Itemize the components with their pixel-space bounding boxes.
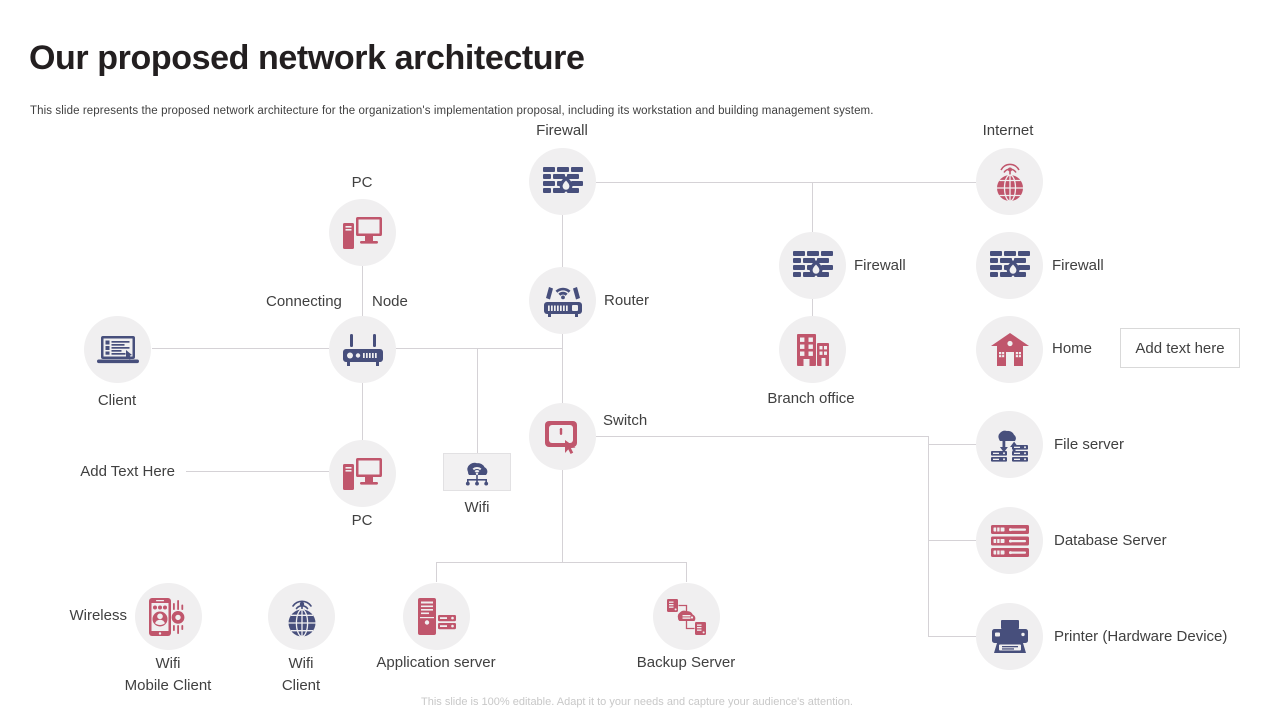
connector-router-switch <box>562 333 563 404</box>
firewall-top-label: Firewall <box>536 120 588 141</box>
wifi-client-label-line1: Wifi <box>289 653 314 674</box>
home-label: Home <box>1052 338 1092 359</box>
application-server-label: Application server <box>376 652 495 673</box>
home-icon <box>990 332 1030 368</box>
connector-bottom-bracket <box>436 562 686 563</box>
connector-bracket-backup-server <box>686 562 687 582</box>
database-server-icon <box>990 523 1030 559</box>
connector-firewall-router <box>562 215 563 267</box>
internet-globe-icon <box>989 161 1031 203</box>
backup-server-icon <box>666 597 708 637</box>
pc-bottom-label: PC <box>352 510 373 531</box>
connector-bus-firewall-mid <box>812 182 813 232</box>
application-server-node[interactable] <box>403 583 470 650</box>
wifi-globe-icon <box>281 596 323 638</box>
file-server-icon <box>989 426 1031 464</box>
firewall-icon <box>542 165 584 199</box>
firewall-icon <box>989 249 1031 283</box>
connector-node-pc-bottom <box>362 382 363 440</box>
firewall-icon <box>792 249 834 283</box>
file-server-label: File server <box>1054 434 1124 455</box>
client-node[interactable] <box>84 316 151 383</box>
add-text-here-label[interactable]: Add Text Here <box>80 461 175 482</box>
wifi-node[interactable] <box>443 453 511 491</box>
wifi-label: Wifi <box>465 497 490 518</box>
page-subtitle: This slide represents the proposed netwo… <box>30 105 874 117</box>
wifi-mobile-client-label-line1: Wifi <box>156 653 181 674</box>
office-building-icon <box>795 332 831 368</box>
client-label: Client <box>98 390 136 411</box>
backup-server-node[interactable] <box>653 583 720 650</box>
wifi-cloud-icon <box>461 458 493 486</box>
firewall-mid-label: Firewall <box>854 255 906 276</box>
connector-addtext-pc <box>186 471 329 472</box>
printer-node[interactable] <box>976 603 1043 670</box>
wifi-client-node[interactable] <box>268 583 335 650</box>
connector-node-right-bus <box>395 348 562 349</box>
wifi-client-label-line2: Client <box>282 675 320 696</box>
pc-bottom-node[interactable] <box>329 440 396 507</box>
connector-firewall-internet <box>596 182 976 183</box>
connector-firewall-branch <box>812 298 813 316</box>
laptop-client-icon <box>97 334 139 366</box>
connector-bus-database <box>928 540 976 541</box>
connector-switch-down <box>562 470 563 562</box>
mobile-client-icon <box>148 597 190 637</box>
router-node[interactable] <box>529 267 596 334</box>
router-node-icon <box>341 333 385 367</box>
switch-label: Switch <box>603 410 647 431</box>
backup-server-label: Backup Server <box>637 652 735 673</box>
connector-bus-wifi <box>477 348 478 453</box>
switch-node[interactable] <box>529 403 596 470</box>
branch-office-label: Branch office <box>767 388 854 409</box>
slide-canvas: Our proposed network architecture This s… <box>0 0 1280 720</box>
printer-label: Printer (Hardware Device) <box>1054 626 1227 647</box>
database-server-node[interactable] <box>976 507 1043 574</box>
wifi-mobile-client-label-line2: Mobile Client <box>125 675 212 696</box>
database-server-label: Database Server <box>1054 530 1167 551</box>
pc-icon <box>343 215 383 251</box>
firewall-right-label: Firewall <box>1052 255 1104 276</box>
switch-power-icon <box>544 419 582 455</box>
wifi-mobile-client-node[interactable] <box>135 583 202 650</box>
router-icon <box>541 284 585 318</box>
internet-label: Internet <box>983 120 1034 141</box>
home-node[interactable] <box>976 316 1043 383</box>
connector-pc-node <box>362 266 363 316</box>
pc-top-node[interactable] <box>329 199 396 266</box>
internet-node[interactable] <box>976 148 1043 215</box>
connector-server-vertical-bus <box>928 436 929 636</box>
wireless-label: Wireless <box>69 605 127 626</box>
node-label: Node <box>372 291 408 312</box>
router-label: Router <box>604 290 649 311</box>
pc-top-label: PC <box>352 172 373 193</box>
connector-client-node <box>152 348 329 349</box>
application-server-icon <box>416 597 458 637</box>
firewall-top-node[interactable] <box>529 148 596 215</box>
connector-bus-printer <box>928 636 976 637</box>
pc-icon <box>343 456 383 492</box>
connecting-label: Connecting <box>266 291 342 312</box>
page-title: Our proposed network architecture <box>29 36 584 80</box>
connector-switch-server-bus <box>596 436 928 437</box>
connector-bracket-app-server <box>436 562 437 582</box>
file-server-node[interactable] <box>976 411 1043 478</box>
add-text-box[interactable]: Add text here <box>1120 328 1240 368</box>
firewall-right-node[interactable] <box>976 232 1043 299</box>
slide-footer-note: This slide is 100% editable. Adapt it to… <box>421 696 853 708</box>
firewall-mid-node[interactable] <box>779 232 846 299</box>
branch-office-node[interactable] <box>779 316 846 383</box>
node-router-node[interactable] <box>329 316 396 383</box>
printer-icon <box>990 619 1030 655</box>
connector-bus-file-server <box>928 444 976 445</box>
